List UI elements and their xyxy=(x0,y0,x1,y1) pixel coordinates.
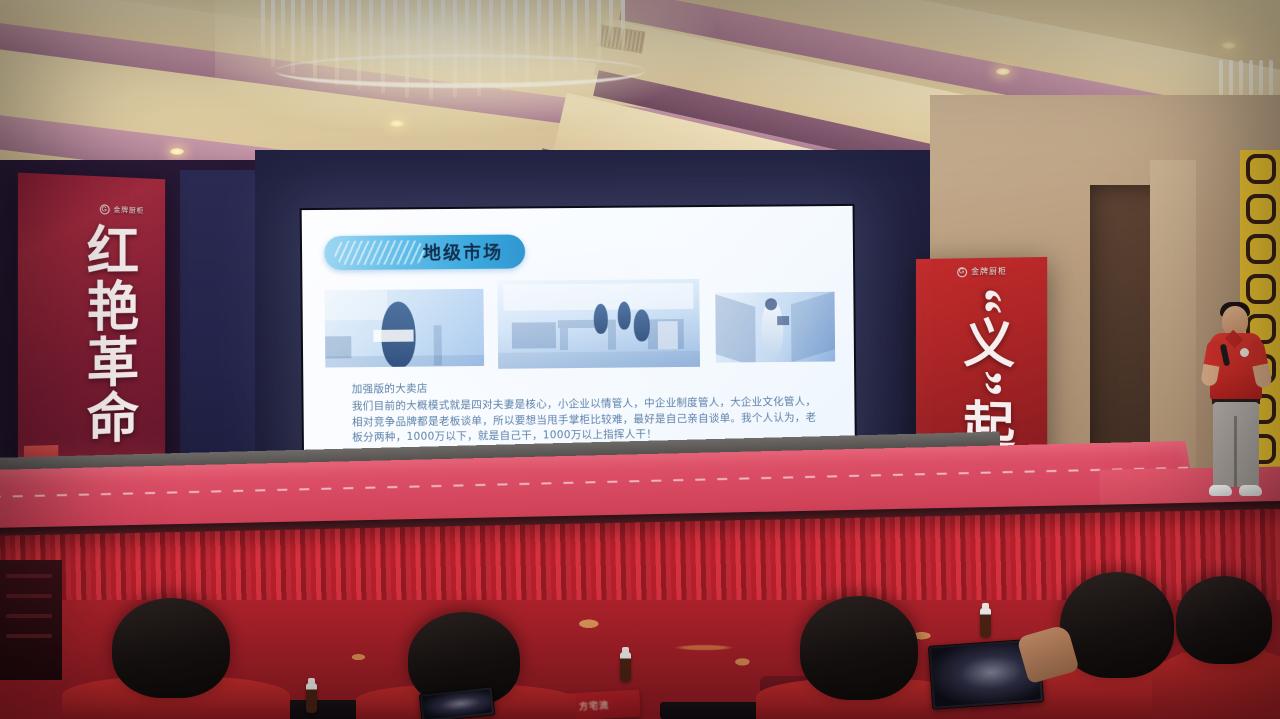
phone-screen xyxy=(422,690,492,719)
slide-photo-woman-tablet xyxy=(715,292,835,363)
water-bottle xyxy=(980,608,991,638)
slide-photo-row xyxy=(325,278,838,371)
led-presentation-screen: 地级市场 xyxy=(300,204,857,477)
slide-photo-office xyxy=(497,279,700,369)
slide-paragraph: 我们目前的大概模式就是四对夫妻是核心，小企业以情管人，中企业制度管人，大企业文化… xyxy=(352,395,816,444)
attendee-head xyxy=(112,598,230,698)
speaker-shoe-left xyxy=(1209,485,1232,496)
left-banner-logo: G 金牌厨柜 xyxy=(100,204,144,216)
right-banner-logo: G 金牌厨柜 xyxy=(957,266,1007,278)
attendee-head xyxy=(800,596,918,700)
chandelier-ring xyxy=(275,54,645,88)
slide-title-badge: 地级市场 xyxy=(324,234,525,270)
slide-title-text: 地级市场 xyxy=(423,239,504,266)
water-bottle xyxy=(620,652,631,682)
ceiling-downlight xyxy=(170,148,184,155)
stage-edge-marker-line xyxy=(0,467,1190,498)
speaker-shoe-right xyxy=(1239,485,1262,496)
ceiling-downlight xyxy=(1222,42,1236,49)
brand-g-icon: G xyxy=(957,267,967,277)
right-banner-logo-text: 金牌厨柜 xyxy=(971,266,1007,278)
slide-photo-man-reading xyxy=(325,289,485,368)
left-banner-slogan: 红艳革命 xyxy=(80,222,134,447)
slide-body-text: 加强版的大卖店 我们目前的大概模式就是四对夫妻是核心，小企业以情管人，中企业制度… xyxy=(352,378,822,447)
conference-hall-scene: G 金牌厨柜 红艳革命 G 金牌厨柜 “义”起拼 地级市场 xyxy=(0,0,1280,719)
brand-g-icon: G xyxy=(100,204,110,214)
left-banner-logo-text: 金牌厨柜 xyxy=(113,205,144,216)
crystal-chandelier xyxy=(255,0,675,109)
ceiling-downlight xyxy=(996,68,1010,75)
water-bottle xyxy=(306,683,317,713)
speaker-on-stage xyxy=(1196,300,1276,505)
speaker-shirt-logo xyxy=(1240,348,1249,357)
speaker-trousers xyxy=(1213,402,1259,487)
left-stacked-chairs xyxy=(0,560,62,680)
table-card-text: 方宅流 xyxy=(579,698,610,713)
attendee-head xyxy=(1176,576,1272,664)
presentation-slide: 地级市场 xyxy=(302,206,855,475)
